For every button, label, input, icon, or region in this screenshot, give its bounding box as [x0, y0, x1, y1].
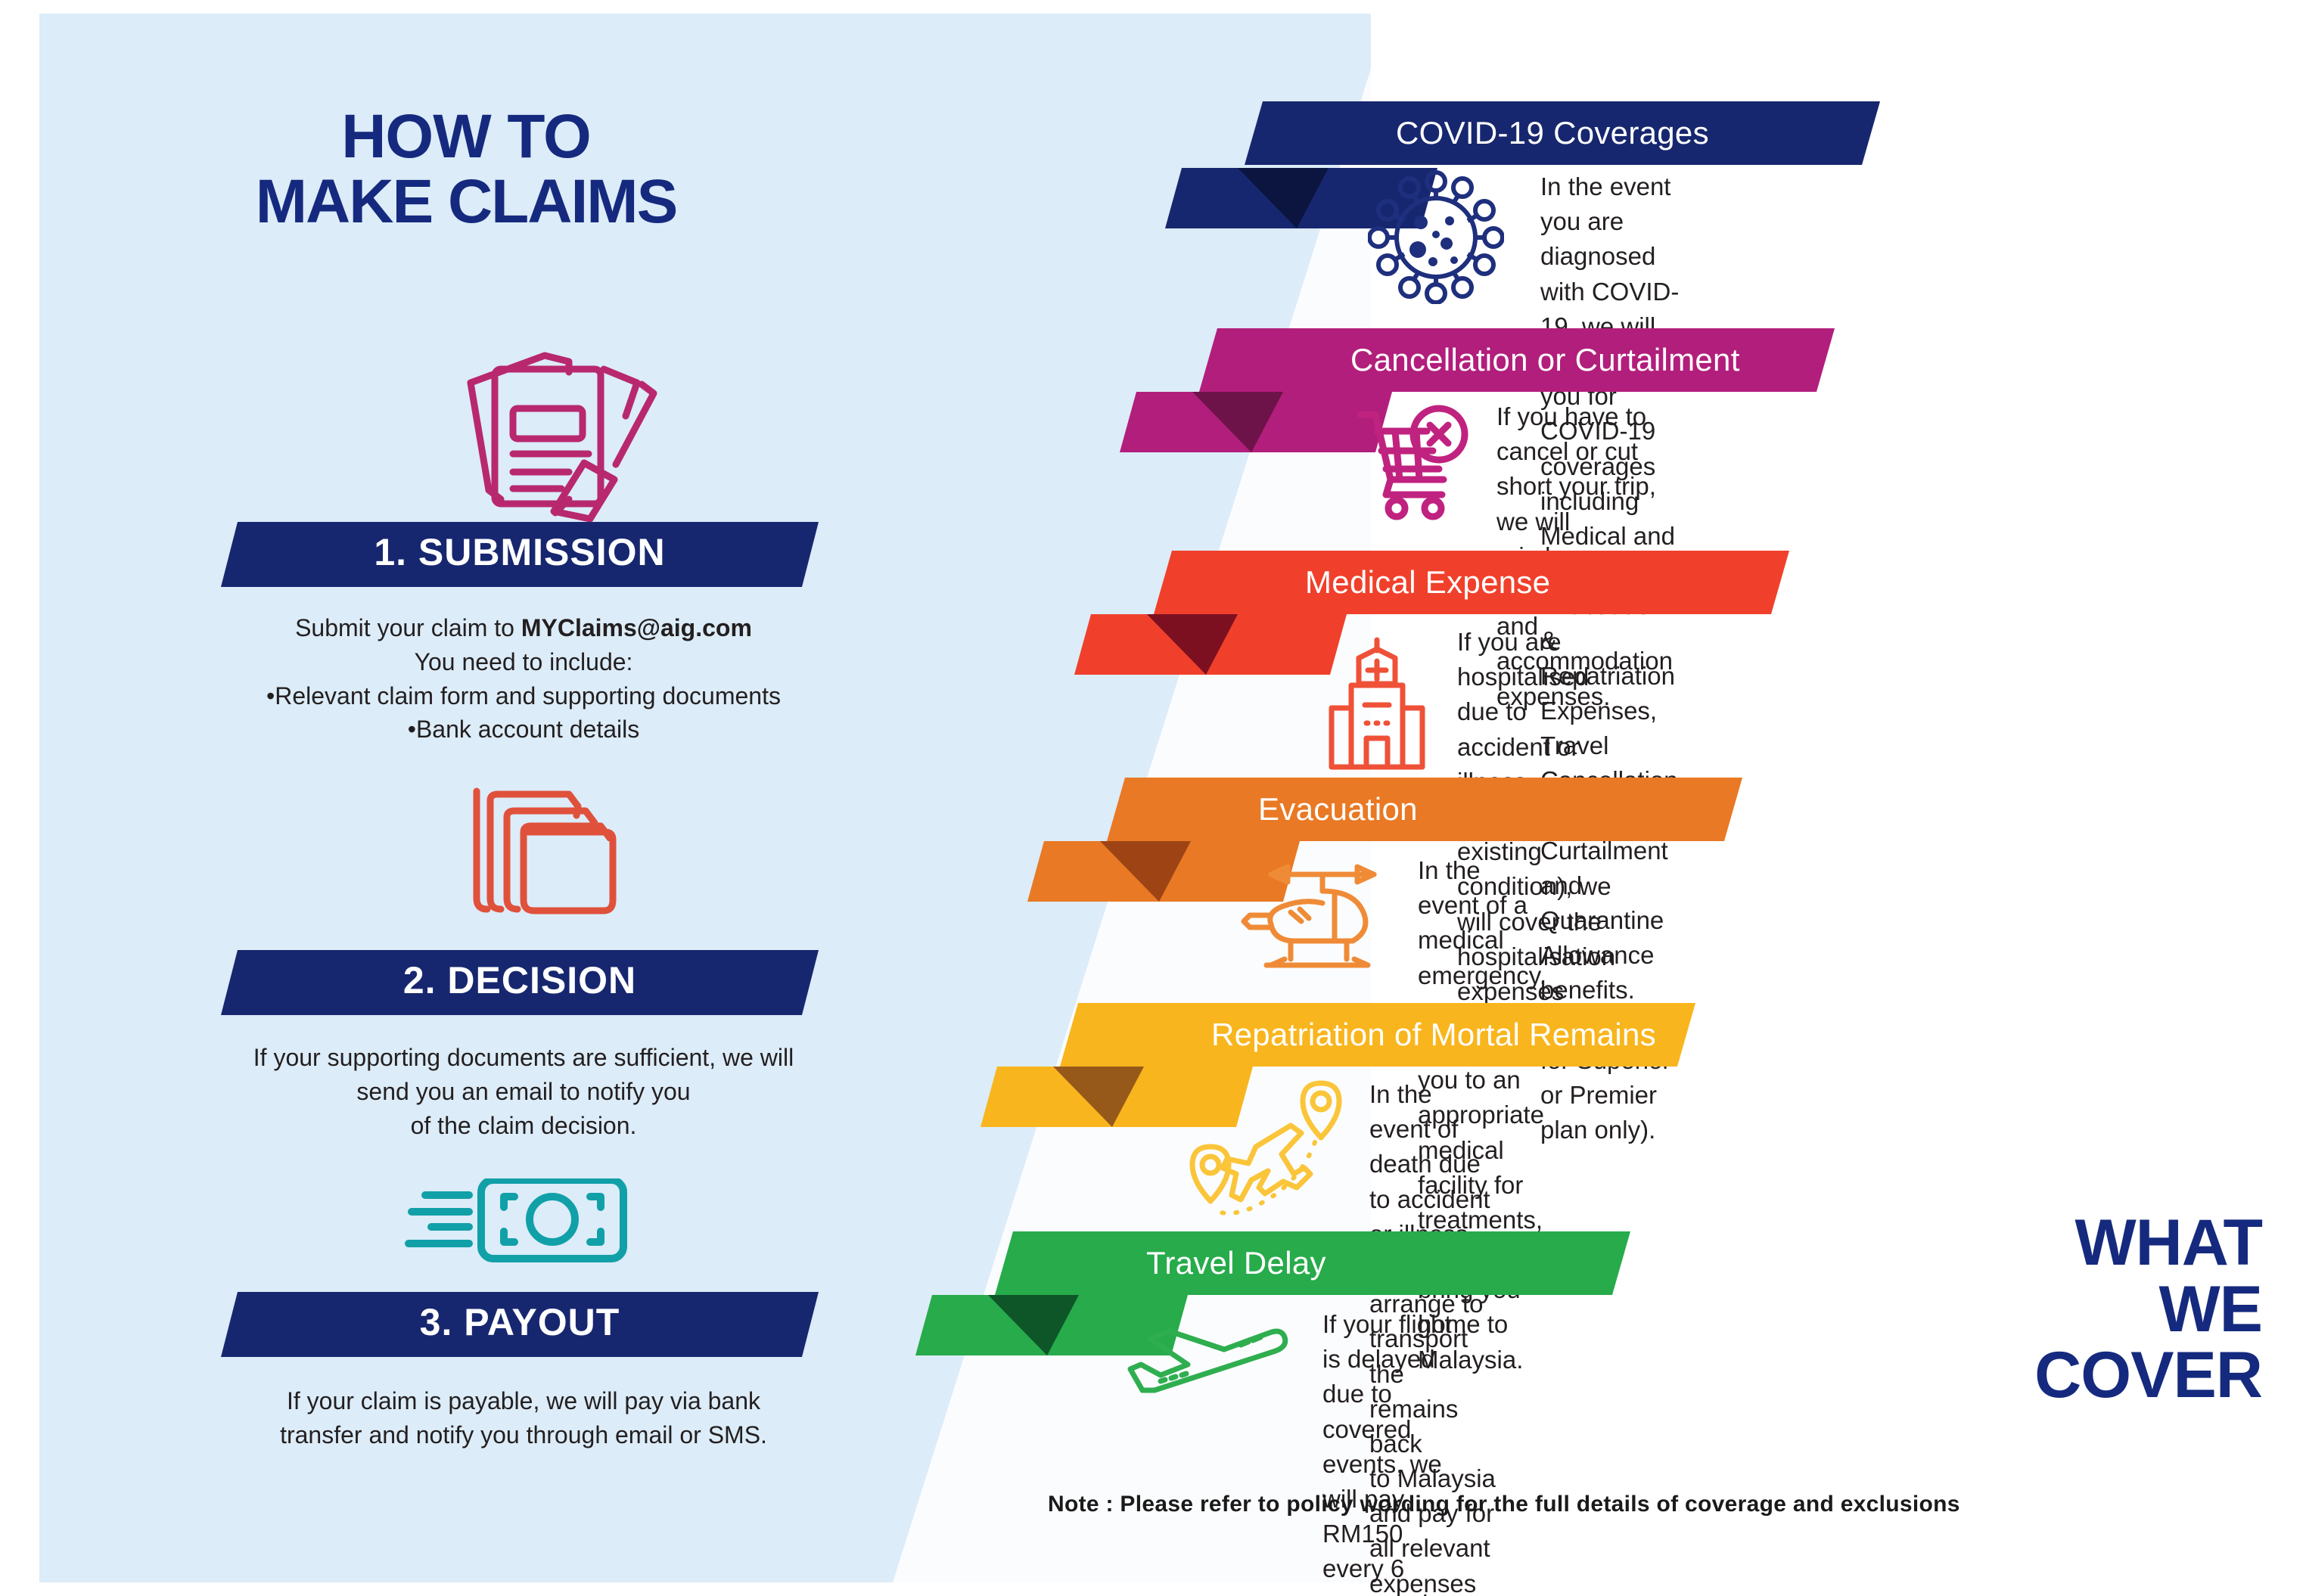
coverage-title: Cancellation or Curtailment	[1350, 342, 1740, 378]
body-line: If your flight is delayed due to covered	[1322, 1307, 1454, 1447]
submission-bullet-2: •Bank account details	[191, 713, 856, 747]
coverage-title: COVID-19 Coverages	[1396, 115, 1709, 151]
ribbon-repatriation[interactable]: Repatriation of Mortal Remains	[1060, 1003, 1695, 1067]
step-banner-label: 3. PAYOUT	[420, 1300, 620, 1344]
ribbon-evacuation[interactable]: Evacuation	[1107, 778, 1742, 841]
coverage-title: Travel Delay	[1146, 1245, 1326, 1281]
decision-line-3: of the claim decision.	[191, 1109, 856, 1143]
folder-icon	[463, 785, 637, 921]
coverage-title: Evacuation	[1258, 791, 1418, 827]
money-transfer-icon	[402, 1178, 660, 1277]
page-title-line-2: MAKE CLAIMS	[39, 169, 893, 234]
coverage-body-travel-delay: If your flight is delayed due to covered…	[1322, 1307, 1454, 1596]
step-body-submission: Submit your claim to MYClaims@aig.com Yo…	[191, 611, 856, 747]
body-line: If you have to cancel or cut short your …	[1496, 399, 1673, 505]
what-we-cover-heading: WHAT WE COVER	[1937, 1210, 2262, 1409]
step-banner-payout[interactable]: 3. PAYOUT	[221, 1292, 819, 1357]
ribbon-medical[interactable]: Medical Expense	[1154, 551, 1789, 614]
submission-line-1: Submit your claim to MYClaims@aig.com	[191, 611, 856, 645]
decision-line-1: If your supporting documents are suffici…	[191, 1041, 856, 1075]
decision-line-2: send you an email to notify you	[191, 1075, 856, 1109]
infographic-canvas: HOW TO MAKE CLAIMS 1. SUBMISSION	[0, 0, 2306, 1596]
body-line: In the event of death due to accident or…	[1369, 1077, 1497, 1252]
claims-email: MYClaims@aig.com	[521, 614, 752, 641]
coverage-title: Medical Expense	[1305, 564, 1550, 601]
step-body-decision: If your supporting documents are suffici…	[191, 1041, 856, 1142]
cart-cancel-icon	[1354, 401, 1475, 522]
body-line: If you are hospitalised due to accident …	[1457, 625, 1615, 765]
policy-note: Note : Please refer to policy wording fo…	[1048, 1492, 1960, 1517]
payout-line-2: transfer and notify you through email or…	[191, 1418, 856, 1452]
ribbon-travel-delay[interactable]: Travel Delay	[995, 1231, 1630, 1295]
body-line: In the event of a medical emergency, we	[1418, 853, 1546, 1028]
documents-with-pen-icon	[455, 339, 682, 528]
step-banner-label: 1. SUBMISSION	[374, 530, 665, 574]
payout-line-1: If your claim is payable, we will pay vi…	[191, 1384, 856, 1418]
ribbon-covid19[interactable]: COVID-19 Coverages	[1245, 101, 1880, 165]
ribbon-cancellation[interactable]: Cancellation or Curtailment	[1199, 328, 1835, 392]
step-banner-label: 2. DECISION	[403, 958, 636, 1002]
airplane-icon	[1127, 1318, 1294, 1424]
step-banner-decision[interactable]: 2. DECISION	[221, 950, 819, 1015]
page-title-line-1: HOW TO	[39, 104, 893, 169]
page-title: HOW TO MAKE CLAIMS	[39, 104, 893, 234]
body-line: consecutive hours delayed . With an	[1322, 1587, 1454, 1596]
step-body-payout: If your claim is payable, we will pay vi…	[191, 1384, 856, 1452]
submission-bullet-1: •Relevant claim form and supporting docu…	[191, 679, 856, 713]
what-we-cover-line-3: COVER	[1937, 1343, 2262, 1409]
submission-line-2: You need to include:	[191, 645, 856, 679]
how-to-make-claims-column: HOW TO MAKE CLAIMS 1. SUBMISSION	[39, 14, 893, 1582]
helicopter-icon	[1241, 862, 1400, 983]
virus-icon	[1368, 168, 1504, 304]
step-banner-submission[interactable]: 1. SUBMISSION	[221, 522, 819, 587]
submission-intro: Submit your claim to	[295, 614, 521, 641]
what-we-cover-line-1: WHAT	[1937, 1210, 2262, 1277]
hospital-icon	[1316, 635, 1437, 772]
route-plane-icon	[1177, 1074, 1351, 1225]
what-we-cover-line-2: WE	[1937, 1277, 2262, 1343]
coverage-title: Repatriation of Mortal Remains	[1211, 1017, 1656, 1053]
